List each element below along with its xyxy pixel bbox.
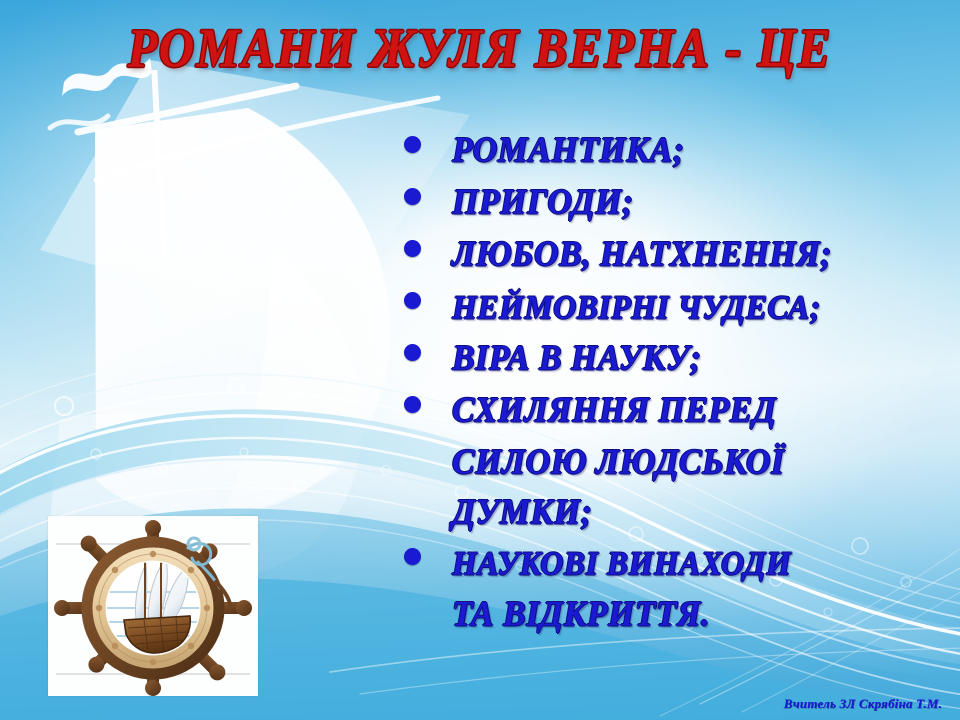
list-item-text: ВІРА В НАУКУ; — [452, 332, 701, 386]
list-item: СХИЛЯННЯ ПЕРЕД — [404, 384, 960, 434]
bullet-marker — [404, 176, 452, 205]
list-item-text: НЕЙМОВІРНІ ЧУДЕСА; — [452, 280, 821, 334]
list-item-text: ЛЮБОВ, НАТХНЕННЯ; — [452, 228, 832, 282]
list-item: ЛЮБОВ, НАТХНЕННЯ; — [404, 228, 960, 278]
list-item-text-continuation: СИЛОЮ ЛЮДСЬКОЇ — [452, 436, 960, 490]
list-item-text: ПРИГОДИ; — [452, 176, 634, 230]
slide-title: РОМАНИ ЖУЛЯ ВЕРНА - ЦЕ — [0, 16, 960, 73]
bullet-marker — [404, 124, 452, 153]
presentation-slide: РОМАНИ ЖУЛЯ ВЕРНА - ЦЕ РОМАНТИКА; ПРИГОД… — [0, 0, 960, 720]
slide-title-text: РОМАНИ ЖУЛЯ ВЕРНА - ЦЕ — [128, 16, 833, 80]
bullet-marker — [404, 228, 452, 257]
list-item-text-continuation: ДУМКИ; — [452, 486, 960, 540]
list-item-text: НАУКОВІ ВИНАХОДИ — [452, 536, 791, 590]
list-item: НЕЙМОВІРНІ ЧУДЕСА; — [404, 280, 960, 330]
bullet-marker — [404, 332, 452, 361]
list-item: РОМАНТИКА; — [404, 124, 960, 174]
list-item-text: СХИЛЯННЯ ПЕРЕД — [452, 384, 776, 438]
teacher-credit: Вчитель ЗЛ Скрябіна Т.М. — [784, 696, 942, 712]
list-item-text-continuation: ТА ВІДКРИТТЯ. — [452, 588, 960, 642]
bullet-marker — [404, 280, 452, 309]
ships-wheel-image — [48, 516, 258, 696]
bullet-marker — [404, 384, 452, 413]
list-item: ПРИГОДИ; — [404, 176, 960, 226]
bullet-list: РОМАНТИКА; ПРИГОДИ; ЛЮБОВ, НАТХНЕННЯ; НЕ… — [404, 124, 960, 638]
bullet-marker — [404, 536, 452, 565]
list-item-text: РОМАНТИКА; — [452, 124, 685, 178]
list-item: НАУКОВІ ВИНАХОДИ — [404, 536, 960, 586]
list-item: ВІРА В НАУКУ; — [404, 332, 960, 382]
